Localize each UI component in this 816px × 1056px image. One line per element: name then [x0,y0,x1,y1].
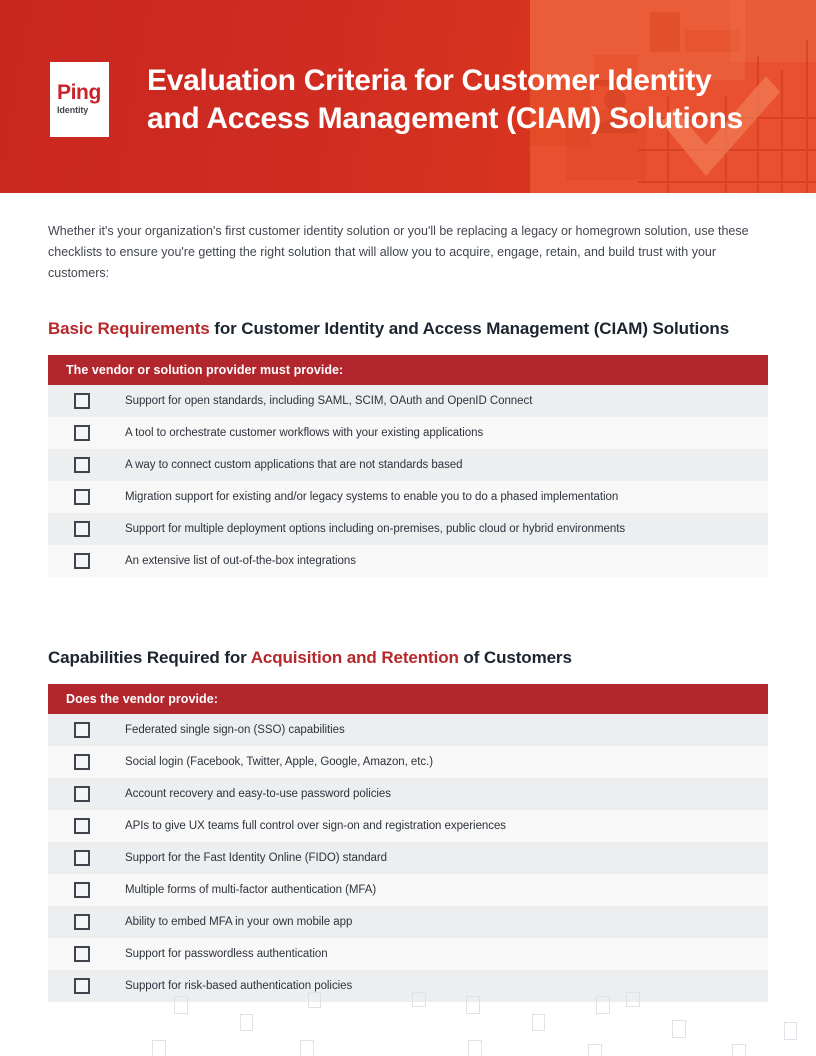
checklist-item-label: Support for multiple deployment options … [125,523,625,535]
logo-sub-text: Identity [57,105,88,116]
checkbox-icon[interactable] [74,914,90,930]
checklist-row[interactable]: Support for the Fast Identity Online (FI… [48,842,768,874]
checklist-header-basic: The vendor or solution provider must pro… [48,355,768,385]
checkbox-icon[interactable] [74,978,90,994]
checkbox-icon[interactable] [74,786,90,802]
section-heading-rest: of Customers [459,648,572,667]
checkbox-icon[interactable] [74,457,90,473]
checklist-row[interactable]: A way to connect custom applications tha… [48,449,768,481]
checklist-row[interactable]: Multiple forms of multi-factor authentic… [48,874,768,906]
checklist-header-acquisition: Does the vendor provide: [48,684,768,714]
checkbox-icon[interactable] [74,722,90,738]
checklist-item-label: Support for passwordless authentication [125,948,328,960]
checklist-item-label: APIs to give UX teams full control over … [125,820,506,832]
checklist-row[interactable]: Support for multiple deployment options … [48,513,768,545]
ping-identity-logo: Ping Identity [50,62,109,137]
checkbox-icon[interactable] [74,754,90,770]
checklist-item-label: Social login (Facebook, Twitter, Apple, … [125,756,433,768]
checklist-row[interactable]: An extensive list of out-of-the-box inte… [48,545,768,577]
checklist-item-label: Federated single sign-on (SSO) capabilit… [125,724,345,736]
checkbox-icon[interactable] [74,850,90,866]
checklist-row[interactable]: Ability to embed MFA in your own mobile … [48,906,768,938]
checklist-item-label: Support for open standards, including SA… [125,395,532,407]
checklist-row[interactable]: Social login (Facebook, Twitter, Apple, … [48,746,768,778]
checklist-table-basic-requirements: The vendor or solution provider must pro… [48,355,768,577]
checklist-item-label: A way to connect custom applications tha… [125,459,462,471]
checklist-row[interactable]: Support for passwordless authentication [48,938,768,970]
checklist-item-label: Support for the Fast Identity Online (FI… [125,852,387,864]
document-content: Whether it's your organization's first c… [0,221,816,1002]
checkbox-icon[interactable] [74,882,90,898]
checklist-item-label: Multiple forms of multi-factor authentic… [125,884,376,896]
page-banner: Ping Identity Evaluation Criteria for Cu… [0,0,816,193]
checklist-item-label: Support for risk-based authentication po… [125,980,352,992]
checkbox-icon[interactable] [74,946,90,962]
checkbox-icon[interactable] [74,553,90,569]
checklist-row[interactable]: Account recovery and easy-to-use passwor… [48,778,768,810]
checklist-row[interactable]: Federated single sign-on (SSO) capabilit… [48,714,768,746]
section-heading-accent: Basic Requirements [48,319,210,338]
checkbox-icon[interactable] [74,393,90,409]
section-heading-rest: for Customer Identity and Access Managem… [210,319,729,338]
checklist-row[interactable]: Migration support for existing and/or le… [48,481,768,513]
section-heading-pre: Capabilities Required for [48,648,251,667]
checkbox-icon[interactable] [74,425,90,441]
checklist-item-label: A tool to orchestrate customer workflows… [125,427,483,439]
checklist-row[interactable]: A tool to orchestrate customer workflows… [48,417,768,449]
page-title: Evaluation Criteria for Customer Identit… [147,62,747,138]
section-heading-acquisition-retention: Capabilities Required for Acquisition an… [48,646,768,670]
checklist-item-label: Migration support for existing and/or le… [125,491,618,503]
checkbox-icon[interactable] [74,818,90,834]
checklist-item-label: Ability to embed MFA in your own mobile … [125,916,352,928]
checklist-item-label: Account recovery and easy-to-use passwor… [125,788,391,800]
logo-brand-text: Ping [57,83,101,103]
checklist-row[interactable]: Support for open standards, including SA… [48,385,768,417]
section-heading-accent: Acquisition and Retention [251,648,459,667]
checkbox-icon[interactable] [74,489,90,505]
section-heading-basic-requirements: Basic Requirements for Customer Identity… [48,317,768,341]
checklist-row[interactable]: APIs to give UX teams full control over … [48,810,768,842]
checkbox-icon[interactable] [74,521,90,537]
section-spacer [48,577,768,613]
checklist-table-acquisition-retention: Does the vendor provide: Federated singl… [48,684,768,1002]
checklist-item-label: An extensive list of out-of-the-box inte… [125,555,356,567]
checklist-row[interactable]: Support for risk-based authentication po… [48,970,768,1002]
intro-paragraph: Whether it's your organization's first c… [48,221,760,284]
